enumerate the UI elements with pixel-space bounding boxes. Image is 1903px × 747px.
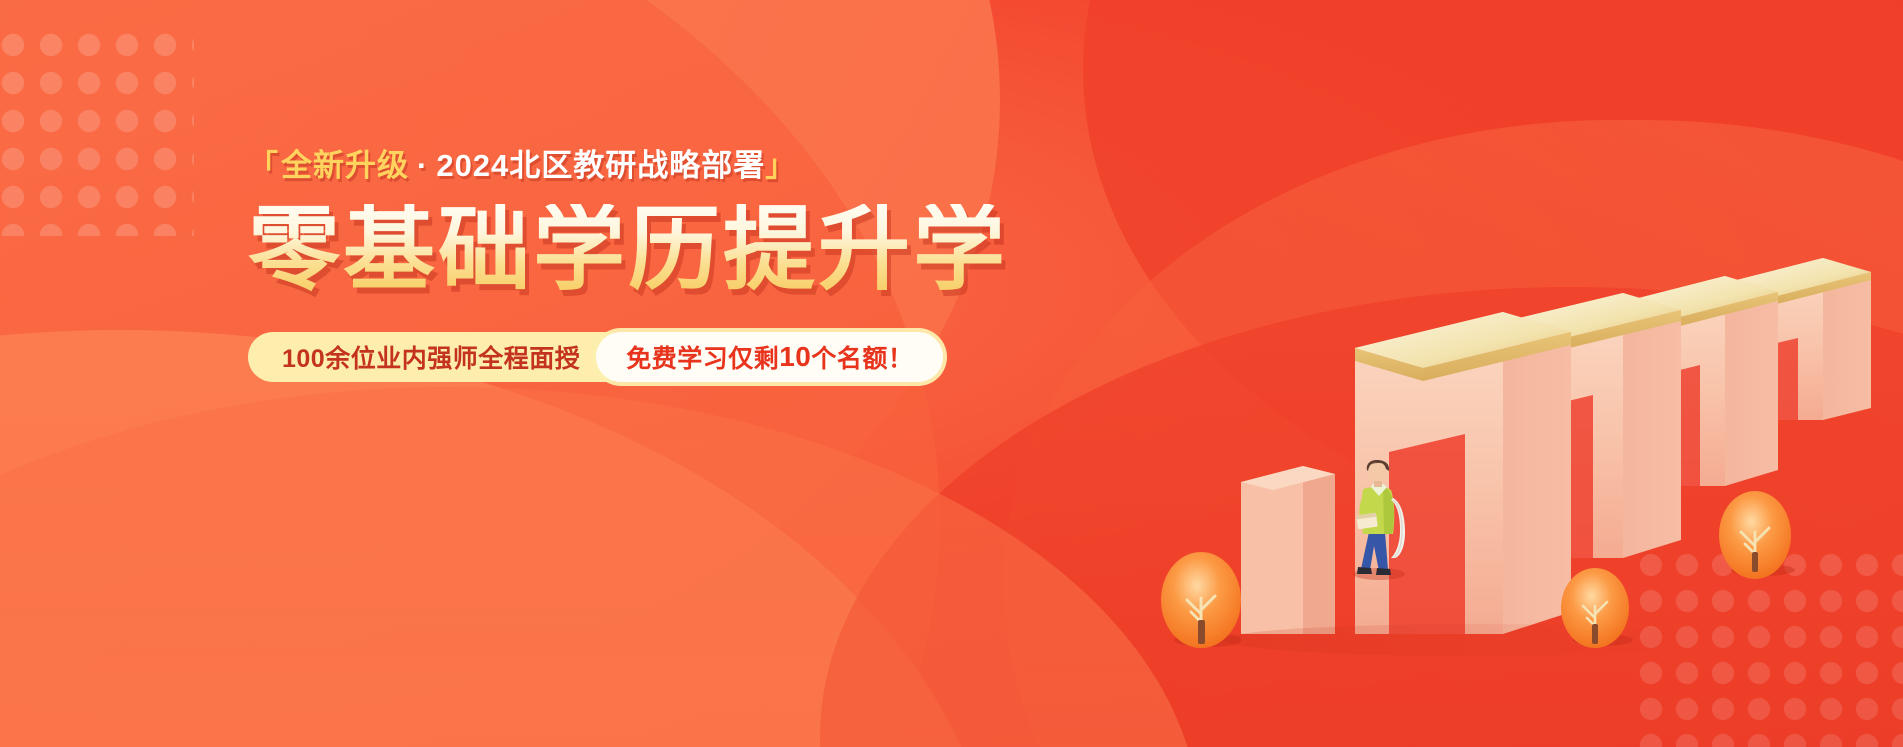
banner-text-block: 「 全新升级 · 2024北区教研战略部署 」 零基础学历提升学霸班 100余位…: [248, 150, 1008, 382]
eyebrow-gold-text: 全新升级: [281, 150, 409, 181]
bracket-close: 」: [765, 152, 796, 182]
eyebrow-separator: ·: [417, 150, 428, 181]
badge-row: 100余位业内强师全程面授 免费学习仅剩10个名额！: [248, 332, 1008, 382]
eyebrow-white-text: 2024北区教研战略部署: [436, 150, 765, 181]
eyebrow-line: 「 全新升级 · 2024北区教研战略部署 」: [248, 150, 1008, 182]
promo-banner: 「 全新升级 · 2024北区教研战略部署 」 零基础学历提升学霸班 100余位…: [0, 0, 1903, 747]
badge-free-slots-count: 10: [779, 341, 811, 373]
badge-free-slots-suffix: 个名额！: [811, 339, 913, 375]
badge-instructors: 100余位业内强师全程面授: [248, 332, 612, 382]
banner-headline: 零基础学历提升学霸班: [248, 204, 1008, 298]
badge-free-slots[interactable]: 免费学习仅剩10个名额！: [596, 332, 943, 382]
badge-free-slots-prefix: 免费学习仅剩: [626, 339, 779, 375]
bracket-open: 「: [248, 152, 279, 182]
